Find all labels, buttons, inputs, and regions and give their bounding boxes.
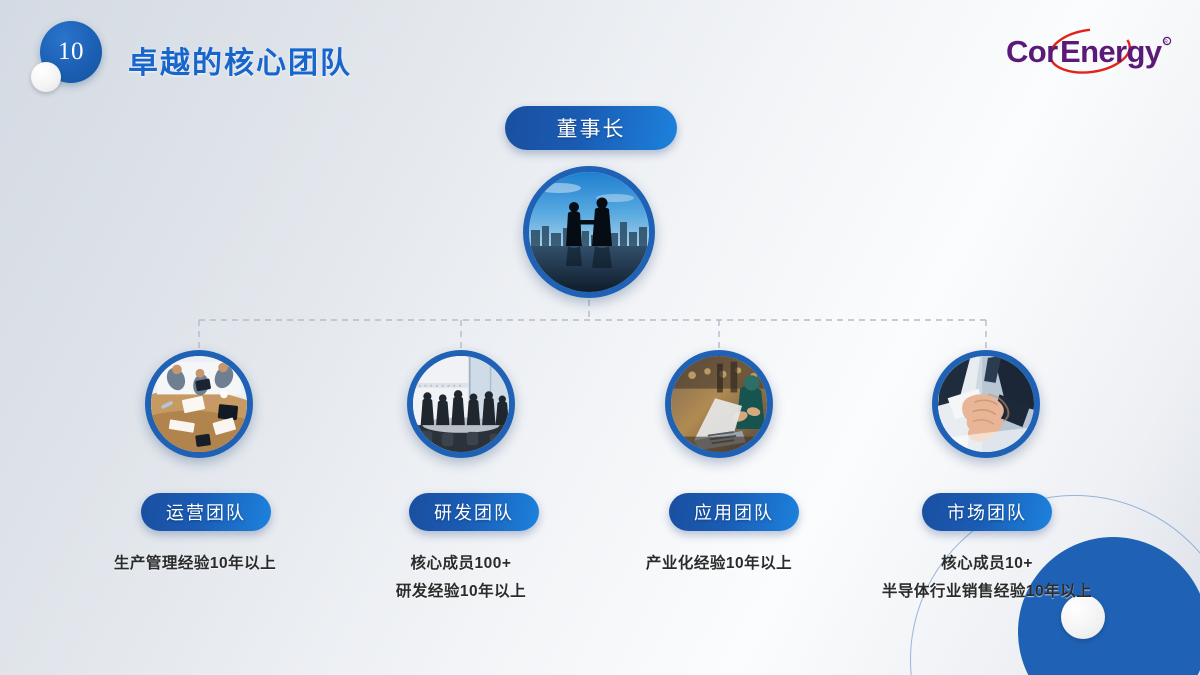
badge-accent-dot	[31, 62, 61, 92]
detail-line: 核心成员100+	[311, 550, 611, 578]
node-team-0-photo	[145, 350, 253, 458]
corenergy-logo: Cor Energy R	[1002, 24, 1178, 80]
node-team-2-label[interactable]: 应用团队	[669, 493, 799, 531]
conference-room-meeting-photo	[413, 356, 509, 452]
detail-line: 研发经验10年以上	[311, 578, 611, 606]
node-team-3-label[interactable]: 市场团队	[922, 493, 1052, 531]
handshake-cityscape-photo	[529, 172, 649, 292]
node-chairman-photo	[523, 166, 655, 298]
node-team-1-photo	[407, 350, 515, 458]
svg-text:Energy: Energy	[1060, 34, 1163, 69]
svg-text:R: R	[1164, 40, 1168, 46]
node-team-1-label[interactable]: 研发团队	[409, 493, 539, 531]
handshake-closeup-photo	[938, 356, 1034, 452]
node-team-0-label[interactable]: 运营团队	[141, 493, 271, 531]
slide-header: 10 卓越的核心团队 Cor Energy R	[0, 0, 1200, 110]
node-team-1-details: 核心成员100+ 研发经验10年以上	[311, 550, 611, 606]
node-team-0-details: 生产管理经验10年以上	[45, 550, 345, 578]
slide-number-label: 10	[58, 38, 84, 66]
svg-text:Cor: Cor	[1006, 34, 1058, 69]
corenergy-logo-icon: Cor Energy R	[1002, 24, 1178, 80]
node-team-2-details: 产业化经验10年以上	[569, 550, 869, 578]
node-chairman-label[interactable]: 董事长	[505, 106, 677, 150]
node-team-3-photo	[932, 350, 1040, 458]
laptop-worker-photo	[671, 356, 767, 452]
node-team-2-photo	[665, 350, 773, 458]
page-title: 卓越的核心团队	[128, 38, 352, 82]
detail-line: 产业化经验10年以上	[569, 550, 869, 578]
detail-line: 半导体行业销售经验10年以上	[837, 578, 1137, 606]
office-desk-overhead-photo	[151, 356, 247, 452]
node-team-3-details: 核心成员10+ 半导体行业销售经验10年以上	[837, 550, 1137, 606]
detail-line: 核心成员10+	[837, 550, 1137, 578]
detail-line: 生产管理经验10年以上	[45, 550, 345, 578]
